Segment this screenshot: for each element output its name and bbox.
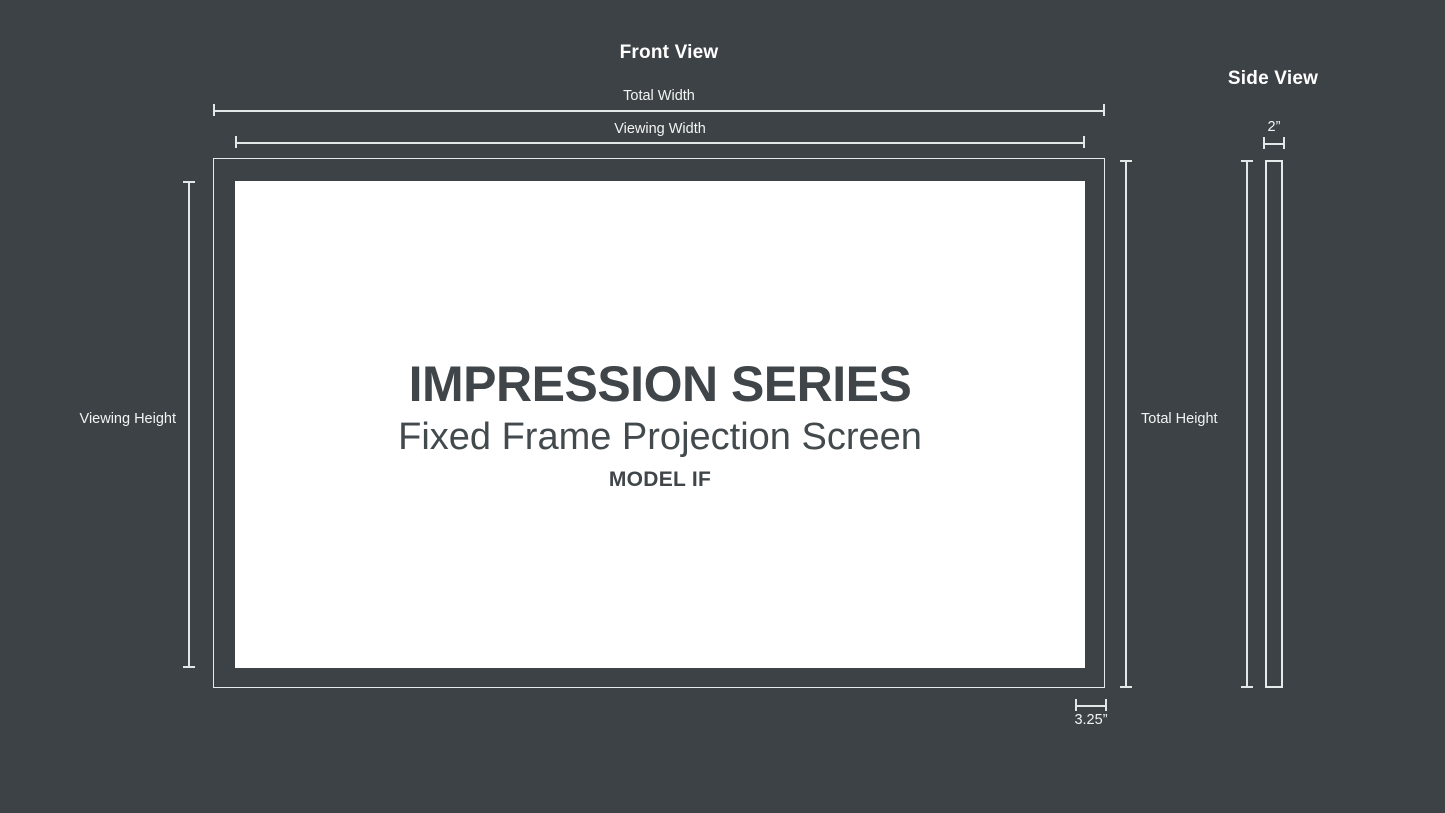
frame-width-dimension-line bbox=[1075, 705, 1107, 707]
front-view-title: Front View bbox=[0, 42, 1338, 64]
side-height-cap-bottom bbox=[1241, 686, 1253, 688]
side-depth-label: 2” bbox=[1214, 119, 1334, 135]
viewing-height-cap-bottom bbox=[183, 666, 195, 668]
viewing-width-dimension-line bbox=[235, 142, 1085, 144]
viewing-width-cap-right bbox=[1083, 136, 1085, 148]
brand-name: IMPRESSION SERIES bbox=[409, 358, 912, 411]
side-depth-dimension-line bbox=[1263, 143, 1285, 145]
frame-width-cap-left bbox=[1075, 699, 1077, 711]
side-height-dimension-line bbox=[1246, 160, 1248, 688]
side-view-title: Side View bbox=[1173, 68, 1373, 90]
screen-branding-block: IMPRESSION SERIES Fixed Frame Projection… bbox=[235, 181, 1085, 668]
total-width-cap-right bbox=[1103, 104, 1105, 116]
total-height-dimension-line bbox=[1125, 160, 1127, 688]
total-height-label: Total Height bbox=[1141, 411, 1218, 427]
side-depth-cap-left bbox=[1263, 137, 1265, 149]
model-number: MODEL IF bbox=[609, 468, 711, 492]
total-height-cap-top bbox=[1120, 160, 1132, 162]
total-width-dimension-line bbox=[213, 110, 1105, 112]
side-profile-bar bbox=[1265, 160, 1283, 688]
viewing-height-label: Viewing Height bbox=[0, 411, 176, 427]
total-width-label: Total Width bbox=[213, 88, 1105, 104]
total-width-cap-left bbox=[213, 104, 215, 116]
screen-dimension-diagram: Front View Total Width Viewing Width IMP… bbox=[0, 0, 1445, 813]
viewing-width-cap-left bbox=[235, 136, 237, 148]
viewing-width-label: Viewing Width bbox=[235, 121, 1085, 137]
viewing-height-cap-top bbox=[183, 181, 195, 183]
side-depth-cap-right bbox=[1283, 137, 1285, 149]
viewing-height-dimension-line bbox=[188, 181, 190, 668]
side-height-cap-top bbox=[1241, 160, 1253, 162]
frame-width-label: 3.25” bbox=[1031, 712, 1151, 728]
total-height-cap-bottom bbox=[1120, 686, 1132, 688]
frame-width-cap-right bbox=[1105, 699, 1107, 711]
product-name: Fixed Frame Projection Screen bbox=[398, 414, 922, 462]
